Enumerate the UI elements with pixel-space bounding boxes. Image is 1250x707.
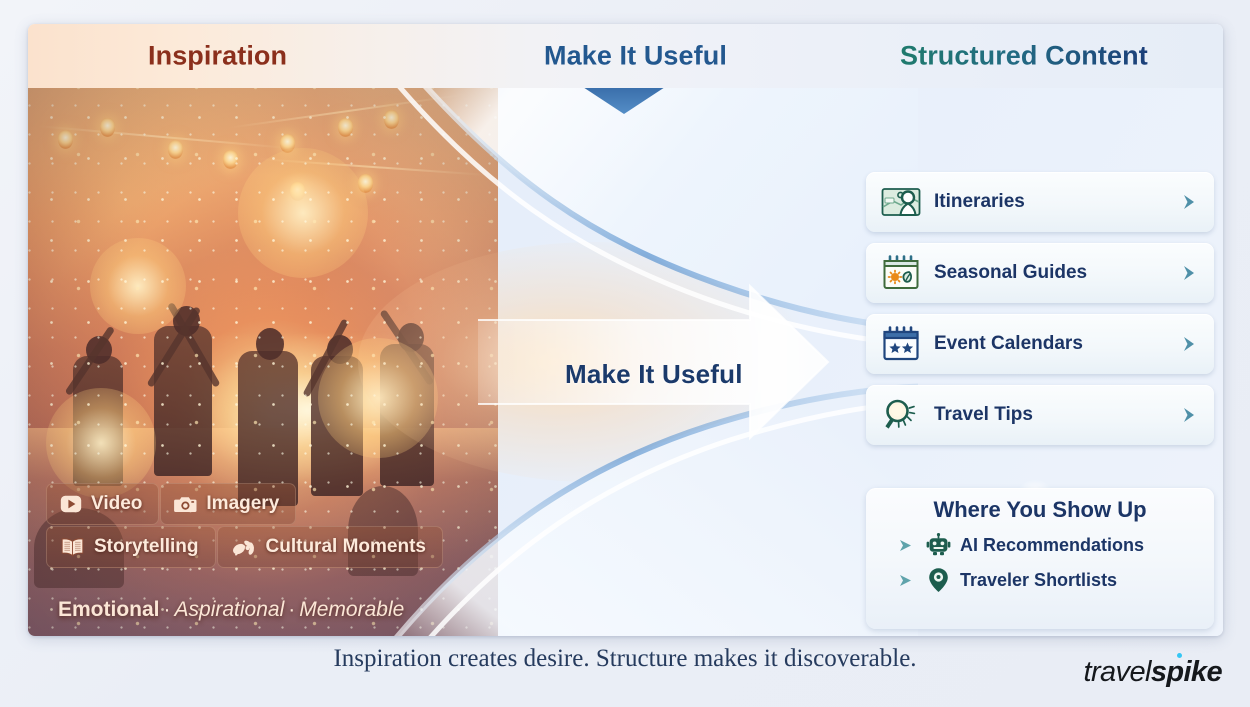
chip-row-top: Video Imagery [46,483,486,526]
chip-imagery[interactable]: Imagery [160,483,296,525]
chip-label: Video [91,493,142,515]
robot-icon [925,533,951,557]
card-label: Itineraries [934,191,1178,213]
footer-caption: Inspiration creates desire. Structure ma… [0,645,1250,673]
calendar-sun-leaf-icon [880,253,922,293]
main-card: Inspiration Make It Useful Structured Co… [28,24,1223,636]
header-title-structured-content: Structured Content [900,41,1148,72]
card-event-calendars[interactable]: Event Calendars [866,314,1214,374]
card-travel-tips[interactable]: Travel Tips [866,385,1214,445]
chip-storytelling[interactable]: Storytelling [46,526,216,568]
card-seasonal-guides[interactable]: Seasonal Guides [866,243,1214,303]
header-bar: Inspiration Make It Useful Structured Co… [28,24,1223,88]
chevron-right-icon[interactable] [1178,334,1200,354]
location-pin-icon [925,567,951,593]
infographic-stage: Inspiration Make It Useful Structured Co… [0,0,1250,707]
chip-cultural-moments[interactable]: Cultural Moments [217,526,443,568]
magnifier-idea-icon [880,395,922,435]
structured-content-rail: Itineraries [866,172,1214,456]
tagline-word-memorable: Memorable [299,598,404,621]
chevron-right-icon[interactable] [1178,192,1200,212]
logo-dot-icon [1177,653,1182,658]
chip-label: Cultural Moments [266,536,426,558]
show-up-label: AI Recommendations [960,535,1144,556]
chevron-right-icon [898,538,916,553]
festival-fan-icon [231,537,257,558]
open-book-icon [60,537,85,557]
travelspike-logo: travelspike [1084,656,1223,689]
panel-title: Where You Show Up [866,497,1214,523]
body-area: Make It Useful Video [28,88,1223,636]
camera-icon [174,495,197,514]
play-button-icon [60,495,82,513]
calendar-stars-icon [880,324,922,364]
chevron-right-icon[interactable] [1178,405,1200,425]
tagline-word-emotional: Emotional [58,598,160,621]
card-label: Travel Tips [934,404,1178,426]
show-up-label: Traveler Shortlists [960,570,1117,591]
header-title-make-it-useful: Make It Useful [544,41,727,72]
map-pin-card-icon [880,182,922,222]
tagline-sep: · [160,598,175,621]
chip-row-bottom: Storytelling [46,526,486,569]
tagline-word-aspirational: Aspirational [175,598,285,621]
card-itineraries[interactable]: Itineraries [866,172,1214,232]
header-title-inspiration: Inspiration [148,41,287,72]
where-you-show-up-panel: Where You Show Up [866,488,1214,629]
inspiration-chip-group: Video Imagery [46,483,486,569]
logo-travel-text: travel [1084,656,1151,688]
tagline-sep: · [284,598,299,621]
chip-label: Storytelling [94,536,199,558]
chip-video[interactable]: Video [46,483,159,525]
chip-label: Imagery [206,493,279,515]
inspiration-tagline: Emotional·Aspirational·Memorable [58,598,404,622]
show-up-item-traveler-shortlists[interactable]: Traveler Shortlists [898,567,1214,593]
card-label: Event Calendars [934,333,1178,355]
chevron-right-icon[interactable] [1178,263,1200,283]
show-up-item-ai-recommendations[interactable]: AI Recommendations [898,533,1214,557]
chevron-right-icon [898,573,916,588]
flow-arrow-label: Make It Useful [565,359,743,390]
logo-spike-text: spike [1151,656,1222,688]
card-label: Seasonal Guides [934,262,1178,284]
